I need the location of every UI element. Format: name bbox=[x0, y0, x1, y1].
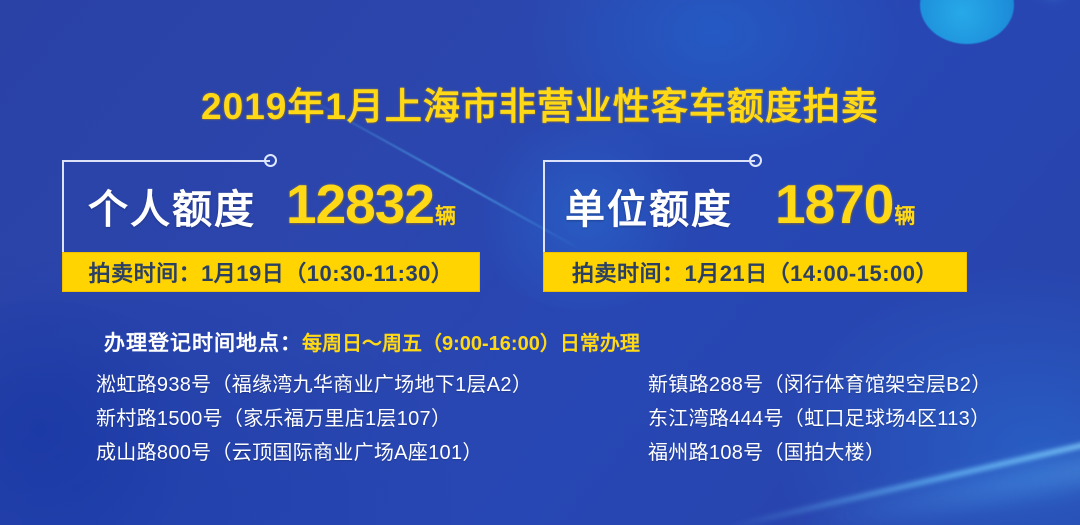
registration-label: 办理登记时间地点： bbox=[104, 332, 302, 355]
company-quota-label: 单位额度 bbox=[565, 190, 733, 230]
address-item: 淞虹路938号（福缘湾九华商业广场地下1层A2） bbox=[96, 368, 540, 402]
address-item: 新村路1500号（家乐福万里店1层107） bbox=[96, 402, 540, 436]
company-quota-unit: 辆 bbox=[894, 206, 915, 227]
personal-quota-number: 12832 bbox=[286, 178, 434, 230]
company-auction-time-text: 拍卖时间：1月21日（14:00-15:00） bbox=[572, 256, 938, 288]
company-quota-row: 单位额度 1870 辆 bbox=[565, 178, 915, 230]
registration-value: 每周日～周五（9:00-16:00）日常办理 bbox=[302, 333, 640, 355]
circle-node-icon bbox=[749, 154, 762, 167]
address-column-left: 淞虹路938号（福缘湾九华商业广场地下1层A2） 新村路1500号（家乐福万里店… bbox=[0, 368, 540, 470]
personal-quota-unit: 辆 bbox=[435, 206, 456, 227]
personal-quota-label: 个人额度 bbox=[88, 190, 256, 230]
address-list: 淞虹路938号（福缘湾九华商业广场地下1层A2） 新村路1500号（家乐福万里店… bbox=[0, 368, 1080, 470]
page-title: 2019年1月上海市非营业性客车额度拍卖 bbox=[0, 76, 1080, 130]
company-quota-panel: 单位额度 1870 辆 拍卖时间：1月21日（14:00-15:00） bbox=[543, 160, 967, 252]
personal-quota-panel: 个人额度 12832 辆 拍卖时间：1月19日（10:30-11:30） bbox=[62, 160, 482, 252]
personal-quota-row: 个人额度 12832 辆 bbox=[88, 178, 456, 230]
personal-auction-time-bar: 拍卖时间：1月19日（10:30-11:30） bbox=[62, 252, 480, 292]
address-item: 东江湾路444号（虹口足球场4区113） bbox=[648, 402, 1080, 436]
address-column-right: 新镇路288号（闵行体育馆架空层B2） 东江湾路444号（虹口足球场4区113）… bbox=[540, 368, 1080, 470]
address-item: 福州路108号（国拍大楼） bbox=[648, 436, 1080, 470]
cyan-circle-decoration bbox=[920, 0, 1014, 44]
registration-heading: 办理登记时间地点：每周日～周五（9:00-16:00）日常办理 bbox=[104, 327, 640, 357]
company-quota-number: 1870 bbox=[775, 178, 893, 230]
personal-auction-time-text: 拍卖时间：1月19日（10:30-11:30） bbox=[89, 256, 454, 288]
poster-canvas: 2019年1月上海市非营业性客车额度拍卖 个人额度 12832 辆 拍卖时间：1… bbox=[0, 0, 1080, 525]
address-item: 新镇路288号（闵行体育馆架空层B2） bbox=[648, 368, 1080, 402]
address-item: 成山路800号（云顶国际商业广场A座101） bbox=[96, 436, 540, 470]
circle-node-icon bbox=[264, 154, 277, 167]
company-auction-time-bar: 拍卖时间：1月21日（14:00-15:00） bbox=[543, 252, 967, 292]
